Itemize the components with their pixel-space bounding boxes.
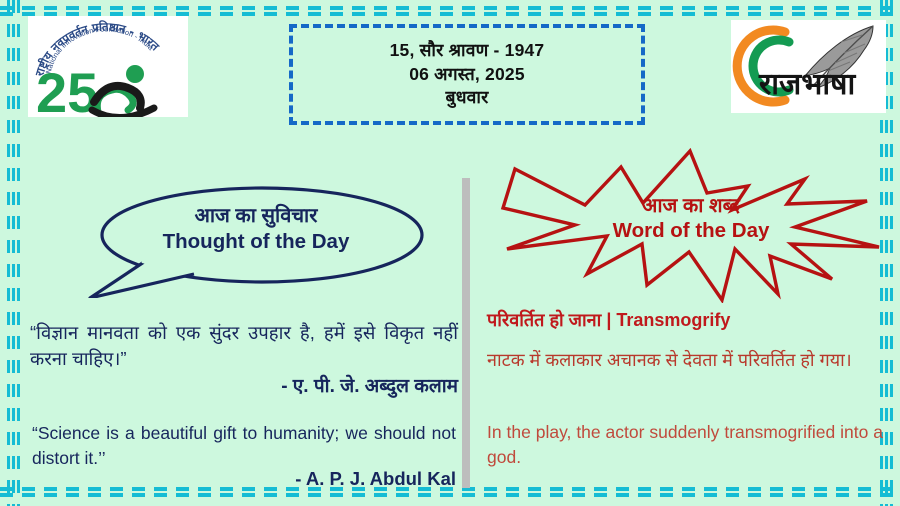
thought-of-the-day-bubble: आज का सुविचार Thought of the Day <box>86 183 426 298</box>
nif-figure-head <box>126 65 144 83</box>
date-line-gregorian: 06 अगस्त, 2025 <box>409 63 525 86</box>
nif-figure-base <box>92 108 154 117</box>
rajbhasha-wordmark: राजभाषा <box>758 67 856 102</box>
date-panel: 15, सौर श्रावण - 1947 06 अगस्त, 2025 बुध… <box>289 24 645 125</box>
thought-author-hi: - ए. पी. जे. अब्दुल कलाम <box>30 372 458 398</box>
word-example-en: In the play, the actor suddenly transmog… <box>487 420 883 470</box>
column-divider <box>462 178 470 488</box>
word-example-hi: नाटक में कलाकार अचानक से देवता में परिवर… <box>487 348 883 374</box>
thought-quote-en: “Science is a beautiful gift to humanity… <box>32 421 456 471</box>
border-left-dashes <box>7 0 20 506</box>
speech-bubble-tail <box>90 262 194 298</box>
rajbhasha-logo: राजभाषा <box>731 20 886 113</box>
word-of-the-day-burst: आज का शब्द Word of the Day <box>495 148 887 303</box>
word-heading-en: Word of the Day <box>495 218 887 244</box>
poster-canvas: राष्ट्रीय नवप्रवर्तन प्रतिष्ठान - भारत N… <box>0 0 900 506</box>
thought-quote-hi: “विज्ञान मानवता को एक सुंदर उपहार है, हम… <box>30 320 458 371</box>
thought-heading-en: Thought of the Day <box>86 229 426 255</box>
word-term: परिवर्तित हो जाना | Transmogrify <box>487 309 887 332</box>
date-line-saka: 15, सौर श्रावण - 1947 <box>390 39 545 62</box>
date-line-weekday: बुधवार <box>446 86 489 109</box>
national-innovation-foundation-logo: राष्ट्रीय नवप्रवर्तन प्रतिष्ठान - भारत N… <box>28 16 188 117</box>
thought-heading-hi: आज का सुविचार <box>86 205 426 229</box>
word-heading-hi: आज का शब्द <box>495 194 887 218</box>
thought-author-en: - A. P. J. Abdul Kal <box>32 468 456 490</box>
